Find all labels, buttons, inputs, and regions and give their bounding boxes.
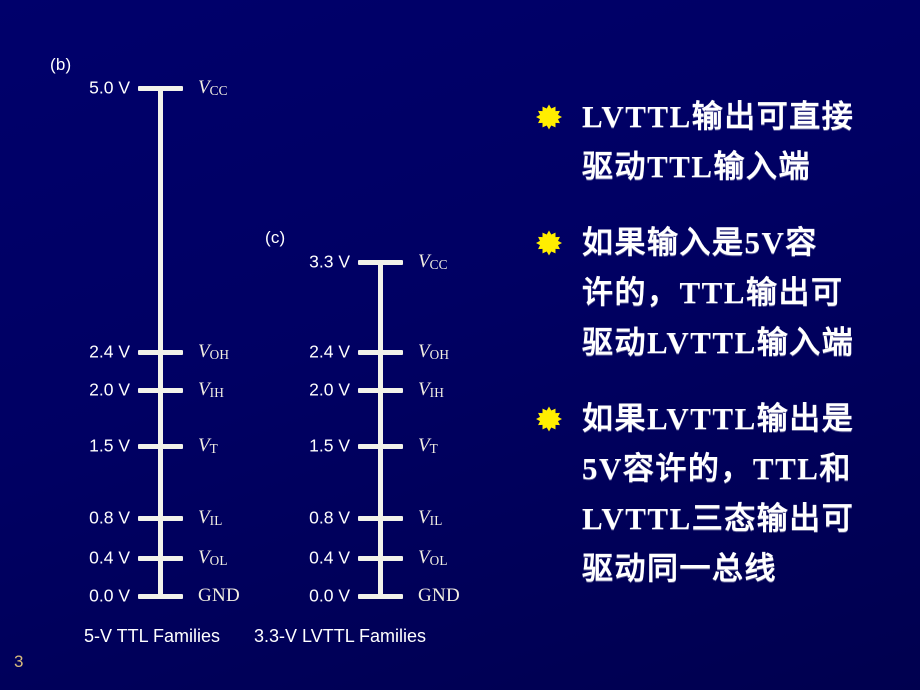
symbol-subscript: T bbox=[210, 441, 218, 456]
voltage-value-label: 2.0 V bbox=[40, 380, 130, 401]
voltage-symbol-label: VOH bbox=[418, 341, 449, 363]
voltage-value-label: 2.0 V bbox=[260, 380, 350, 401]
symbol-base: V bbox=[198, 379, 210, 400]
symbol-base: V bbox=[418, 547, 430, 568]
scale-tick bbox=[358, 556, 403, 561]
symbol-subscript: OH bbox=[430, 347, 450, 362]
symbol-subscript: CC bbox=[430, 257, 448, 272]
symbol-base: V bbox=[198, 507, 210, 528]
voltage-symbol-label: VCC bbox=[418, 251, 448, 273]
list-item-text: LVTTL输出可直接 驱动TTL输入端 bbox=[582, 92, 914, 192]
scale-tick bbox=[358, 350, 403, 355]
symbol-base: GND bbox=[418, 585, 460, 606]
symbol-subscript: T bbox=[430, 441, 438, 456]
scale-tick bbox=[138, 516, 183, 521]
scale-bar-lvttl bbox=[378, 262, 383, 598]
page-number: 3 bbox=[14, 652, 23, 672]
voltage-value-label: 1.5 V bbox=[40, 436, 130, 457]
symbol-base: V bbox=[198, 435, 210, 456]
starburst-icon bbox=[536, 406, 562, 432]
symbol-subscript: OL bbox=[430, 553, 448, 568]
starburst-icon bbox=[536, 104, 562, 130]
voltage-symbol-label: VOL bbox=[418, 547, 448, 569]
voltage-symbol-label: VIL bbox=[418, 507, 443, 529]
voltage-value-label: 0.4 V bbox=[260, 548, 350, 569]
symbol-subscript: IL bbox=[430, 513, 443, 528]
list-item-line: 5V容许的，TTL和 bbox=[582, 444, 914, 494]
list-item: 如果LVTTL输出是 5V容许的，TTL和 LVTTL三态输出可 驱动同一总线 bbox=[534, 394, 914, 594]
list-item-line: 驱动LVTTL输入端 bbox=[582, 318, 914, 368]
voltage-value-label: 2.4 V bbox=[260, 342, 350, 363]
list-item: LVTTL输出可直接 驱动TTL输入端 bbox=[534, 92, 914, 192]
voltage-symbol-label: VT bbox=[198, 435, 218, 457]
list-item-line: 如果输入是5V容 bbox=[582, 218, 914, 268]
panel-tag-b: (b) bbox=[50, 55, 71, 75]
panel-tag-c: (c) bbox=[265, 228, 285, 248]
voltage-symbol-label: VIL bbox=[198, 507, 223, 529]
list-item-text: 如果LVTTL输出是 5V容许的，TTL和 LVTTL三态输出可 驱动同一总线 bbox=[582, 394, 914, 594]
list-item: 如果输入是5V容 许的，TTL输出可 驱动LVTTL输入端 bbox=[534, 218, 914, 368]
voltage-symbol-label: VT bbox=[418, 435, 438, 457]
symbol-base: V bbox=[198, 341, 210, 362]
symbol-base: V bbox=[418, 435, 430, 456]
scale-tick bbox=[358, 516, 403, 521]
voltage-scale-lvttl: (c) 3.3 V 2.4 V 2.0 V 1.5 V 0.8 V 0.4 V … bbox=[220, 0, 520, 690]
scale-tick bbox=[358, 388, 403, 393]
voltage-symbol-label: GND bbox=[418, 585, 460, 607]
scale-tick bbox=[358, 594, 403, 599]
slide-canvas: (b) 5.0 V 2.4 V 2.0 V 1.5 V 0.8 V 0.4 V … bbox=[0, 0, 920, 690]
voltage-symbol-label: VIH bbox=[418, 379, 444, 401]
scale-tick bbox=[358, 444, 403, 449]
list-item-text: 如果输入是5V容 许的，TTL输出可 驱动LVTTL输入端 bbox=[582, 218, 914, 368]
symbol-base: V bbox=[418, 251, 430, 272]
list-item-line: 驱动同一总线 bbox=[582, 544, 914, 594]
starburst-icon bbox=[536, 230, 562, 256]
symbol-base: V bbox=[418, 379, 430, 400]
voltage-value-label: 0.0 V bbox=[260, 586, 350, 607]
list-item-line: 驱动TTL输入端 bbox=[582, 142, 914, 192]
list-item-line: 如果LVTTL输出是 bbox=[582, 394, 914, 444]
scale-tick bbox=[138, 556, 183, 561]
voltage-value-label: 1.5 V bbox=[260, 436, 350, 457]
scale-tick bbox=[138, 444, 183, 449]
symbol-base: V bbox=[418, 341, 430, 362]
symbol-subscript: IH bbox=[430, 385, 444, 400]
scale-tick bbox=[138, 388, 183, 393]
symbol-base: V bbox=[198, 547, 210, 568]
list-item-line: LVTTL三态输出可 bbox=[582, 494, 914, 544]
scale-tick bbox=[138, 86, 183, 91]
voltage-value-label: 0.0 V bbox=[40, 586, 130, 607]
scale-tick bbox=[138, 350, 183, 355]
scale-tick bbox=[138, 594, 183, 599]
diagram-caption-lvttl: 3.3-V LVTTL Families bbox=[254, 626, 426, 647]
bullet-list: LVTTL输出可直接 驱动TTL输入端 如果输入是5V容 许的，TTL输出可 驱… bbox=[534, 92, 914, 620]
scale-bar-ttl bbox=[158, 88, 163, 598]
symbol-base: V bbox=[418, 507, 430, 528]
voltage-value-label: 0.8 V bbox=[260, 508, 350, 529]
voltage-value-label: 5.0 V bbox=[40, 78, 130, 99]
voltage-value-label: 0.8 V bbox=[40, 508, 130, 529]
symbol-base: V bbox=[198, 77, 210, 98]
list-item-line: 许的，TTL输出可 bbox=[582, 268, 914, 318]
voltage-value-label: 3.3 V bbox=[260, 252, 350, 273]
voltage-value-label: 2.4 V bbox=[40, 342, 130, 363]
scale-tick bbox=[358, 260, 403, 265]
list-item-line: LVTTL输出可直接 bbox=[582, 92, 914, 142]
voltage-value-label: 0.4 V bbox=[40, 548, 130, 569]
diagram-caption-ttl: 5-V TTL Families bbox=[84, 626, 220, 647]
